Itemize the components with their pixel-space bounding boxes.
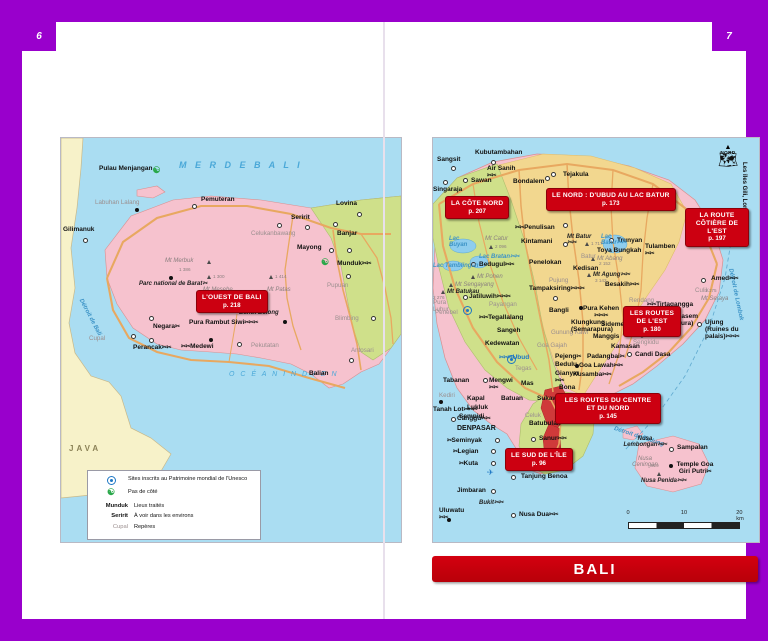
- peak-icon: [657, 472, 661, 476]
- place-toya-bungkah: Toya Bungkah: [597, 248, 641, 255]
- map-node[interactable]: [491, 461, 496, 466]
- map-node[interactable]: [551, 172, 556, 177]
- map-node[interactable]: [545, 176, 550, 181]
- place-pemuteran: Pemuteran: [201, 197, 235, 204]
- map-node[interactable]: [451, 166, 456, 171]
- mountain-mt-patas-elev: 1 414: [275, 275, 287, 280]
- place-sawan: Sawan: [471, 178, 492, 185]
- place-labuhan-lalang: Labuhan Lalang: [95, 200, 139, 207]
- mountain-mt-batukau-elev: 2 276: [433, 296, 445, 301]
- place-gilimanuk: Gilimanuk: [63, 227, 94, 234]
- map-node[interactable]: [333, 222, 338, 227]
- place-goa-giri-putri: Temple Goa Giri Putri✂: [671, 462, 719, 476]
- airport-icon: ✈: [487, 468, 494, 477]
- place-pura-rambut-siwi: Pura Rambut Siwi✂✂✂: [189, 320, 258, 327]
- map-node[interactable]: [149, 316, 154, 321]
- place-seririt: Seririt: [291, 215, 310, 222]
- place-mengwi: Mengwi✂✂: [489, 378, 513, 391]
- place-bukit: Bukit✂✂: [479, 500, 503, 506]
- place-pupuan: Pupuan: [327, 283, 348, 290]
- place-perancak: Perancak✂✂: [133, 345, 171, 352]
- map-node[interactable]: [483, 378, 488, 383]
- map-node[interactable]: [277, 223, 282, 228]
- place-tabanan: Tabanan: [443, 378, 469, 385]
- map-node[interactable]: [627, 352, 632, 357]
- mountain-mt-merbuk-elev: 1 386: [179, 268, 191, 273]
- callout-routes-centre-nord[interactable]: LES ROUTES DU CENTRE ET DU NORD p. 145: [555, 393, 661, 424]
- book-spine: [383, 22, 385, 619]
- map-node[interactable]: [349, 358, 354, 363]
- place-mas: Mas: [521, 381, 534, 388]
- detour-icon: ☯: [94, 489, 128, 500]
- mountain-mt-agung-elev: 3 142: [595, 279, 607, 284]
- country-label-java: JAVA: [69, 445, 101, 453]
- peak-icon: [449, 283, 453, 287]
- place-uluwatu: Uluwatu✂✂: [439, 508, 464, 521]
- island-nusa-ceningan: Nusa Ceningan: [625, 456, 665, 469]
- mountain-mt-seraya-elev: 1 175: [705, 289, 717, 294]
- peak-icon: [587, 273, 591, 277]
- callout-routes-est[interactable]: LES ROUTES DE L'EST p. 180: [623, 306, 681, 337]
- lake-buyan: Lac Buyan: [449, 236, 475, 249]
- peak-icon: [207, 260, 211, 264]
- place-kuta: ✂Kuta: [459, 461, 478, 468]
- map-dot: [579, 306, 583, 310]
- map-dot: [575, 364, 579, 368]
- callout-sud-de-lile[interactable]: LE SUD DE L'ÎLE p. 96: [505, 448, 573, 471]
- map-node[interactable]: [669, 447, 674, 452]
- place-blimbing: Blimbing: [335, 316, 359, 323]
- map-node[interactable]: [531, 437, 536, 442]
- place-tegas: Tegas: [515, 366, 532, 373]
- legend-row-lieux-traites: Munduk Lieux traités: [94, 503, 254, 510]
- place-sanur: Sanur✂✂: [539, 436, 566, 443]
- sea-label-mer-de-bali: M E R D E B A L I: [179, 161, 303, 170]
- peak-icon: [591, 257, 595, 261]
- place-klungkung: Klungkung (Semarapura): [571, 320, 611, 334]
- peak-icon: [269, 275, 273, 279]
- legend-row-cote: ☯ Pas de côté: [94, 489, 254, 500]
- peak-icon: [585, 242, 589, 246]
- map-node[interactable]: [495, 438, 500, 443]
- scale-bar-graphic: [628, 522, 740, 529]
- place-pejeng: Pejeng✂: [555, 354, 581, 361]
- place-celuk: Celuk: [525, 413, 541, 420]
- place-kapal: Kapal: [467, 396, 485, 403]
- place-sangsit: Sangsit: [437, 157, 460, 164]
- place-pujung: Pujung: [549, 278, 568, 285]
- peak-icon: [489, 245, 493, 249]
- place-kintamani: Kintamani: [521, 239, 552, 246]
- map-node[interactable]: [347, 248, 352, 253]
- map-dot: [669, 464, 673, 468]
- place-pura-luhur: Pura Luhur: [433, 300, 459, 313]
- lake-tamblingan: Lac Tamblingan: [433, 263, 478, 269]
- map-node[interactable]: [511, 513, 516, 518]
- map-node[interactable]: [697, 322, 702, 327]
- legend-row-unesco: Sites inscrits au Patrimoine mondial de …: [94, 476, 254, 485]
- map-west-bali[interactable]: M E R D E B A L I O C É A N I N D I E N …: [60, 137, 402, 543]
- place-bangli: Bangli: [549, 308, 569, 315]
- place-seminyak: ✂Seminyak: [447, 438, 482, 445]
- place-payangan: Payangan: [489, 302, 517, 309]
- place-sampalan: Sampalan: [677, 445, 708, 452]
- mountain-mt-catur-elev: 2 096: [495, 245, 507, 250]
- place-tulamben: Tulamben✂✂: [645, 244, 675, 257]
- map-dot: [209, 338, 213, 342]
- place-lovina: Lovina: [336, 201, 357, 208]
- place-candi-dasa: Candi Dasa: [635, 352, 670, 359]
- mountain-mt-catur: Mt Catur: [485, 236, 508, 242]
- map-bali-overview[interactable]: ▲ NORD 🗺 Les îles Gili, Lombok Détroit d…: [432, 137, 760, 543]
- map-node[interactable]: [237, 342, 242, 347]
- place-canggu: Canggu✂✂: [457, 416, 490, 423]
- mountain-mt-merbuk: Mt Merbuk: [165, 258, 193, 264]
- map-dot: [135, 208, 139, 212]
- place-denpasar: DENPASAR: [457, 425, 496, 432]
- map-node[interactable]: [463, 295, 468, 300]
- place-besakih: Besakih✂✂: [605, 282, 639, 289]
- place-bedugul: Bedugul✂✂: [479, 262, 514, 269]
- place-amed: Amed✂✂: [711, 276, 738, 283]
- place-pekutatan: Pekutatan: [251, 343, 279, 350]
- map-node[interactable]: [491, 449, 496, 454]
- map-node[interactable]: [131, 334, 136, 339]
- place-sengkidu: Sengkidu: [633, 340, 659, 347]
- place-mayong: Mayong: [297, 245, 322, 252]
- place-cupal: Cupal: [89, 336, 105, 343]
- mountain-mt-sengayang: Mt Sengayang: [455, 282, 494, 288]
- unesco-icon: [463, 306, 472, 315]
- place-ujung: Ujung (Ruines du palais)✂✂✂: [705, 320, 745, 340]
- map-node[interactable]: [463, 178, 468, 183]
- place-pura-kehen: Pura Kehen✂✂✂: [583, 306, 619, 319]
- legend-row-environs: Seririt À voir dans les environs: [94, 513, 254, 520]
- mountain-mt-batur-elev: 1 717: [591, 242, 603, 247]
- map-node[interactable]: [701, 278, 706, 283]
- lake-batur: Lac Batur✂✂: [601, 234, 627, 247]
- map-node[interactable]: [443, 180, 448, 185]
- map-node[interactable]: [451, 417, 456, 422]
- place-tanah-lot: Tanah Lot✂✂✂: [433, 407, 477, 414]
- map-node[interactable]: [83, 238, 88, 243]
- callout-nord-ubud-lac-batur[interactable]: LE NORD : D'UBUD AU LAC BATUR p. 173: [546, 188, 676, 211]
- mountain-mt-abang-elev: 2 152: [599, 262, 611, 267]
- place-sangeh: Sangeh: [497, 328, 520, 335]
- place-kusamba: Kusamba✂✂: [573, 372, 611, 379]
- place-batuan: Batuan: [501, 396, 523, 403]
- island-nusa-lembongan: Nusa Lembongan✂✂: [621, 436, 669, 449]
- callout-route-cotiere-est[interactable]: LA ROUTE CÔTIÈRE DE L'EST p. 197: [685, 208, 749, 247]
- place-kedewatan: Kedewatan: [485, 341, 519, 348]
- place-celukanbawang: Celukanbawang: [251, 231, 295, 238]
- map-dot: [447, 518, 451, 522]
- callout-ouest-de-bali[interactable]: L'OUEST DE BALI p. 218: [196, 290, 268, 313]
- legend-row-reperes: Cupal Repères: [94, 524, 254, 531]
- place-legian: ✂Legian: [453, 449, 478, 456]
- map-node[interactable]: [192, 204, 197, 209]
- place-tegallalang: ✂✂Tegallalang: [479, 315, 523, 322]
- place-tanjung-benoa: Tanjung Benoa: [521, 474, 567, 481]
- unesco-icon: [94, 476, 128, 485]
- place-nusa-dua: Nusa Dua✂✂: [519, 512, 558, 519]
- mountain-mt-seraya: Mt Seraya: [701, 296, 728, 302]
- map-dot: [169, 276, 173, 280]
- place-kubutambahan: Kubutambahan: [475, 150, 522, 157]
- place-bondalem: Bondalem: [513, 179, 544, 186]
- mountain-mt-mesehe-elev: 1 300: [213, 275, 225, 280]
- map-legend: Sites inscrits au Patrimoine mondial de …: [87, 470, 261, 540]
- peak-icon: [471, 275, 475, 279]
- place-padangbai: Padangbai✂: [587, 354, 624, 361]
- map-node[interactable]: [329, 248, 334, 253]
- place-banjar: Banjar: [337, 231, 357, 238]
- place-antosari: Antosari: [351, 348, 374, 355]
- map-node[interactable]: [563, 223, 568, 228]
- map-dot: [439, 400, 443, 404]
- place-singaraja: Singaraja: [433, 187, 462, 194]
- map-node[interactable]: [371, 316, 376, 321]
- page-number-right: 7: [712, 22, 746, 51]
- scale-bar: 0 10 20 km: [628, 510, 740, 529]
- mountain-mt-patas: Mt Patas: [267, 287, 291, 293]
- map-node[interactable]: [553, 296, 558, 301]
- place-bona: Bona: [559, 385, 575, 392]
- place-goa-gajah: Goa Gajah: [537, 343, 567, 350]
- place-balian: Balian: [309, 371, 329, 378]
- island-nusa-penida: Nusa Penida✂✂: [641, 478, 686, 484]
- map-node[interactable]: [511, 475, 516, 480]
- peak-icon: [207, 275, 211, 279]
- unesco-icon: [507, 355, 516, 364]
- place-kediri: Kediri: [439, 393, 455, 400]
- place-munduk: ☯Munduk✂✂: [329, 258, 371, 268]
- lake-bratan: Lac Bratan✂✂: [479, 254, 519, 260]
- place-pulau-menjangan: Pulau Menjangan☯: [99, 166, 152, 173]
- place-jimbaran: Jimbaran: [457, 488, 486, 495]
- place-goa-lawah: Goa Lawah✂✂: [579, 363, 623, 370]
- mountain-mt-pohen: Mt Pohen: [477, 274, 503, 280]
- place-penelokan: Penelokan: [529, 260, 562, 267]
- map-dot: [283, 320, 287, 324]
- place-negara: Negara✂: [153, 324, 180, 331]
- place-bedulu: Bedulu: [555, 362, 577, 369]
- place-medewi: ✂✂Medewi: [181, 344, 214, 351]
- place-tampaksiring: Tampaksiring✂✂✂: [529, 286, 584, 293]
- callout-cote-nord[interactable]: LA CÔTE NORD p. 207: [445, 196, 509, 219]
- place-manggis: Manggis: [593, 334, 619, 341]
- mountain-mt-batukau: Mt Batukau: [447, 289, 479, 295]
- map-node[interactable]: [346, 274, 351, 279]
- map-node[interactable]: [305, 225, 310, 230]
- page-number-left: 6: [22, 22, 56, 51]
- map-node[interactable]: [357, 212, 362, 217]
- place-parc-national-barat: Parc national de Barat✂: [139, 281, 207, 287]
- map-node[interactable]: [491, 489, 496, 494]
- map-node[interactable]: [149, 338, 154, 343]
- place-penulisan: ✂✂Penulisan: [515, 225, 555, 232]
- map-title-banner: BALI: [432, 556, 758, 582]
- peak-icon: [441, 290, 445, 294]
- place-tejakula: Tejakula: [563, 172, 589, 179]
- nusa-penida-elev: 529: [651, 464, 659, 469]
